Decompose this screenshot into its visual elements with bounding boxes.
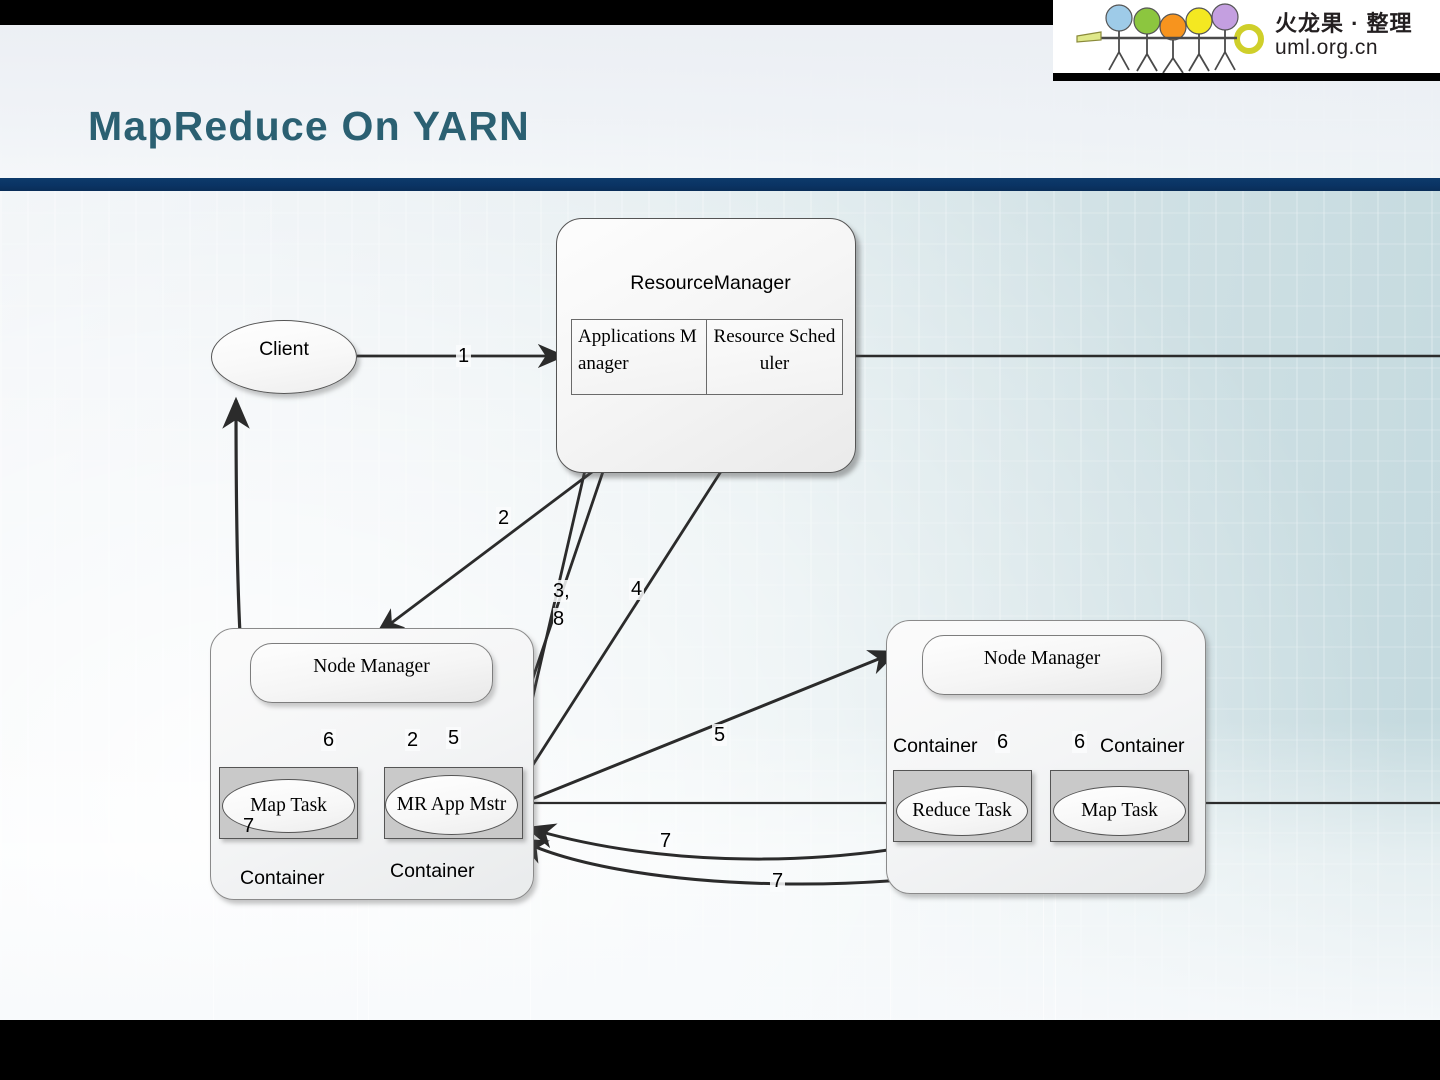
title-divider-rule [0, 178, 1440, 191]
edge-label-6c: 6 [1072, 731, 1087, 753]
resource-manager-box[interactable]: ResourceManager Applications Manager Res… [556, 218, 856, 473]
logo-brand-text: 火龙果 · 整理 [1275, 6, 1413, 38]
resource-manager-subcomponents: Applications Manager Resource Scheduler [571, 319, 843, 395]
map-task-node-right[interactable]: Map Task [1053, 786, 1186, 836]
resource-manager-title: ResourceManager [623, 271, 798, 296]
mr-app-mstr-node[interactable]: MR App Mstr [385, 775, 518, 835]
edge-label-7a: 7 [241, 815, 256, 837]
client-node[interactable]: Client [211, 320, 357, 394]
container-label: Container [893, 731, 981, 762]
top-black-band [0, 0, 1053, 25]
edge-label-2a: 2 [496, 507, 511, 529]
edge-label-7c: 7 [770, 870, 785, 892]
logo-url-text: uml.org.cn [1275, 36, 1378, 60]
edge-label-4: 4 [629, 578, 644, 600]
reduce-task-node[interactable]: Reduce Task [896, 786, 1028, 836]
watermark-logo: 火龙果 · 整理 uml.org.cn [1053, 0, 1440, 73]
edge-label-6a: 6 [321, 729, 336, 751]
container-label: Container [390, 856, 478, 887]
node-manager-right-label[interactable]: Node Manager [922, 635, 1162, 695]
resource-scheduler-cell[interactable]: Resource Scheduler [707, 319, 843, 395]
logo-lower-black-band [1053, 73, 1440, 81]
edge-label-7b: 7 [658, 830, 673, 852]
bottom-black-band [0, 1020, 1440, 1080]
edge-label-5a: 5 [712, 724, 727, 746]
node-manager-left-label[interactable]: Node Manager [250, 643, 493, 703]
stick-figures-icon [1061, 2, 1271, 73]
edge-label-6b: 6 [995, 731, 1010, 753]
page-title: MapReduce On YARN [88, 103, 530, 150]
container-label: Container [240, 863, 328, 894]
edge-label-2b: 2 [405, 729, 420, 751]
edge-label-5b: 5 [446, 727, 461, 749]
applications-manager-cell[interactable]: Applications Manager [571, 319, 707, 395]
edge-label-1: 1 [456, 345, 471, 367]
container-label: Container [1100, 731, 1188, 762]
edge-label-3-8: 3,8 [551, 577, 577, 633]
slide-root: MapReduce On YARN [0, 0, 1440, 1080]
